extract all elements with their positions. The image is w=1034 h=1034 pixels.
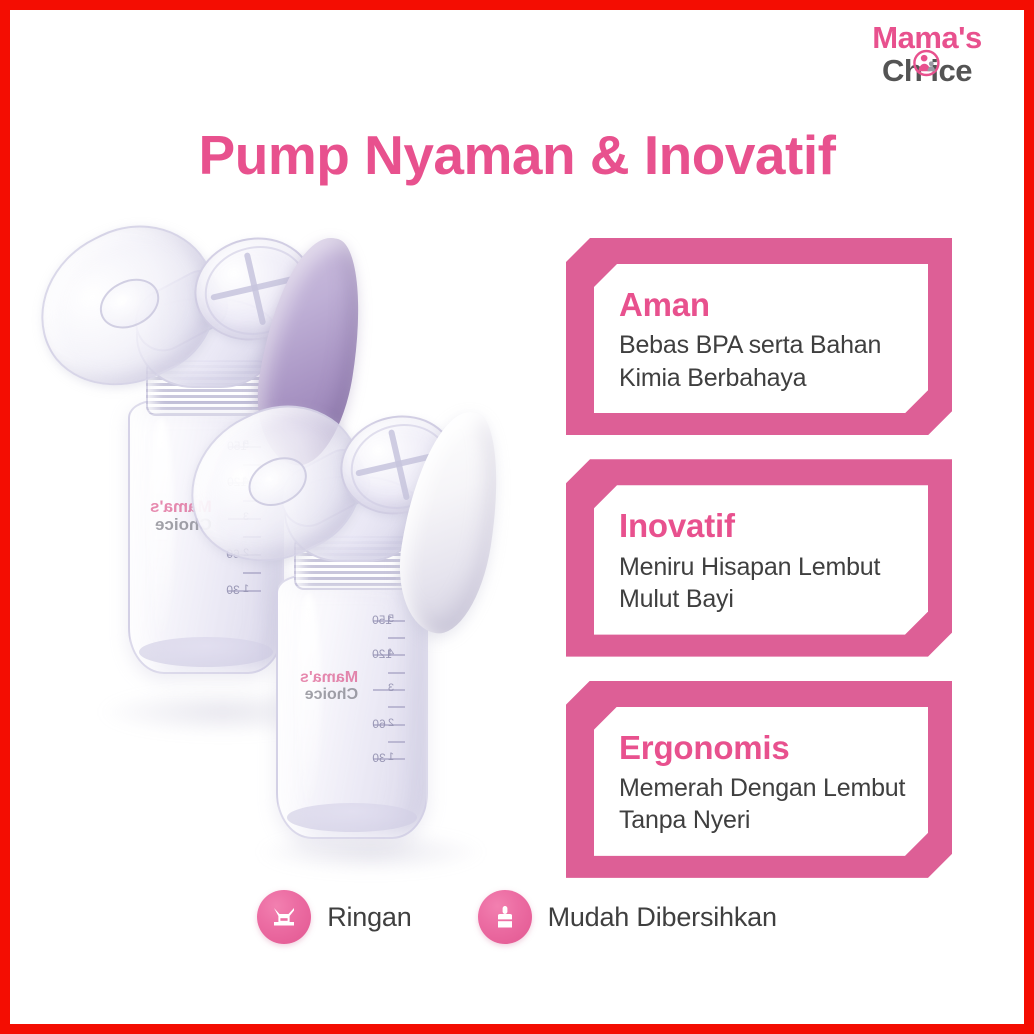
brand-logo: Mama's Ch ice [852, 22, 1002, 89]
feature-title: Inovatif [619, 508, 907, 544]
bottle-measurement-scale: 150 5 120 4 3 60 2 [355, 608, 405, 800]
feature-card-inovatif: Inovatif Meniru Hisapan Lembut Mulut Bay… [566, 459, 952, 656]
feature-card-inner: Ergonomis Memerah Dengan Lembut Tanpa Ny… [594, 707, 928, 856]
bottle-brand-line1: Mama's [300, 669, 358, 686]
banner-stage: Mama's Ch ice Pump Nyaman & Inovatif [10, 10, 1024, 1024]
feature-card-aman: Aman Bebas BPA serta Bahan Kimia Berbaha… [566, 238, 952, 435]
bottle-base [287, 803, 417, 832]
badge-mudah-dibersihkan: Mudah Dibersihkan [478, 890, 777, 944]
pump-front-bottle: 150 5 120 4 3 60 2 [276, 575, 428, 839]
product-image: 150 5 120 4 3 60 2 [28, 220, 538, 870]
brand-logo-choice: Ch ice [882, 55, 972, 86]
brand-logo-choice-row: Ch ice [852, 55, 1002, 89]
badge-ringan: Ringan [257, 890, 411, 944]
brand-logo-mamas: Mama's [852, 22, 1002, 53]
page-title: Pump Nyaman & Inovatif [10, 123, 1024, 187]
badge-label: Ringan [327, 902, 411, 933]
feature-body: Meniru Hisapan Lembut Mulut Bayi [619, 551, 907, 616]
brush-icon [478, 890, 532, 944]
badge-list: Ringan Mudah Dibersihkan [10, 890, 1024, 944]
weight-scale-icon [257, 890, 311, 944]
feature-body: Bebas BPA serta Bahan Kimia Berbahaya [619, 329, 907, 394]
feature-title: Ergonomis [619, 730, 907, 766]
bottle-brand-line2: Choice [300, 686, 358, 703]
bottle-brand-mark: Mama's Choice [300, 669, 358, 704]
feature-card-inner: Inovatif Meniru Hisapan Lembut Mulut Bay… [594, 485, 928, 634]
feature-title: Aman [619, 287, 907, 323]
product-marketing-banner: Mama's Ch ice Pump Nyaman & Inovatif [0, 0, 1034, 1034]
feature-body: Memerah Dengan Lembut Tanpa Nyeri [619, 772, 907, 837]
feature-card-inner: Aman Bebas BPA serta Bahan Kimia Berbaha… [594, 264, 928, 413]
feature-card-list: Aman Bebas BPA serta Bahan Kimia Berbaha… [566, 238, 952, 902]
feature-card-ergonomis: Ergonomis Memerah Dengan Lembut Tanpa Ny… [566, 681, 952, 878]
bottle-base [139, 637, 273, 667]
badge-label: Mudah Dibersihkan [548, 902, 777, 933]
